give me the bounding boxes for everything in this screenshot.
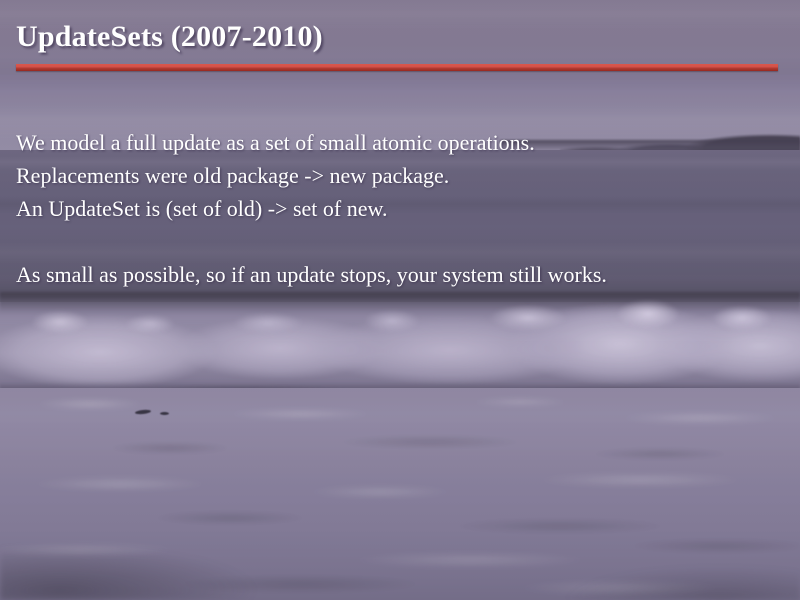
body-spacer — [16, 225, 784, 258]
body-line-2: Replacements were old package -> new pac… — [16, 159, 784, 192]
body-line-1: We model a full update as a set of small… — [16, 126, 784, 159]
presentation-slide: UpdateSets (2007-2010) We model a full u… — [0, 0, 800, 600]
slide-body: We model a full update as a set of small… — [16, 126, 784, 291]
body-closing-line: As small as possible, so if an update st… — [16, 258, 784, 291]
slide-title: UpdateSets (2007-2010) — [16, 20, 323, 53]
title-underline-rule — [16, 64, 778, 71]
body-line-3: An UpdateSet is (set of old) -> set of n… — [16, 192, 784, 225]
slide-content: UpdateSets (2007-2010) We model a full u… — [0, 0, 800, 600]
